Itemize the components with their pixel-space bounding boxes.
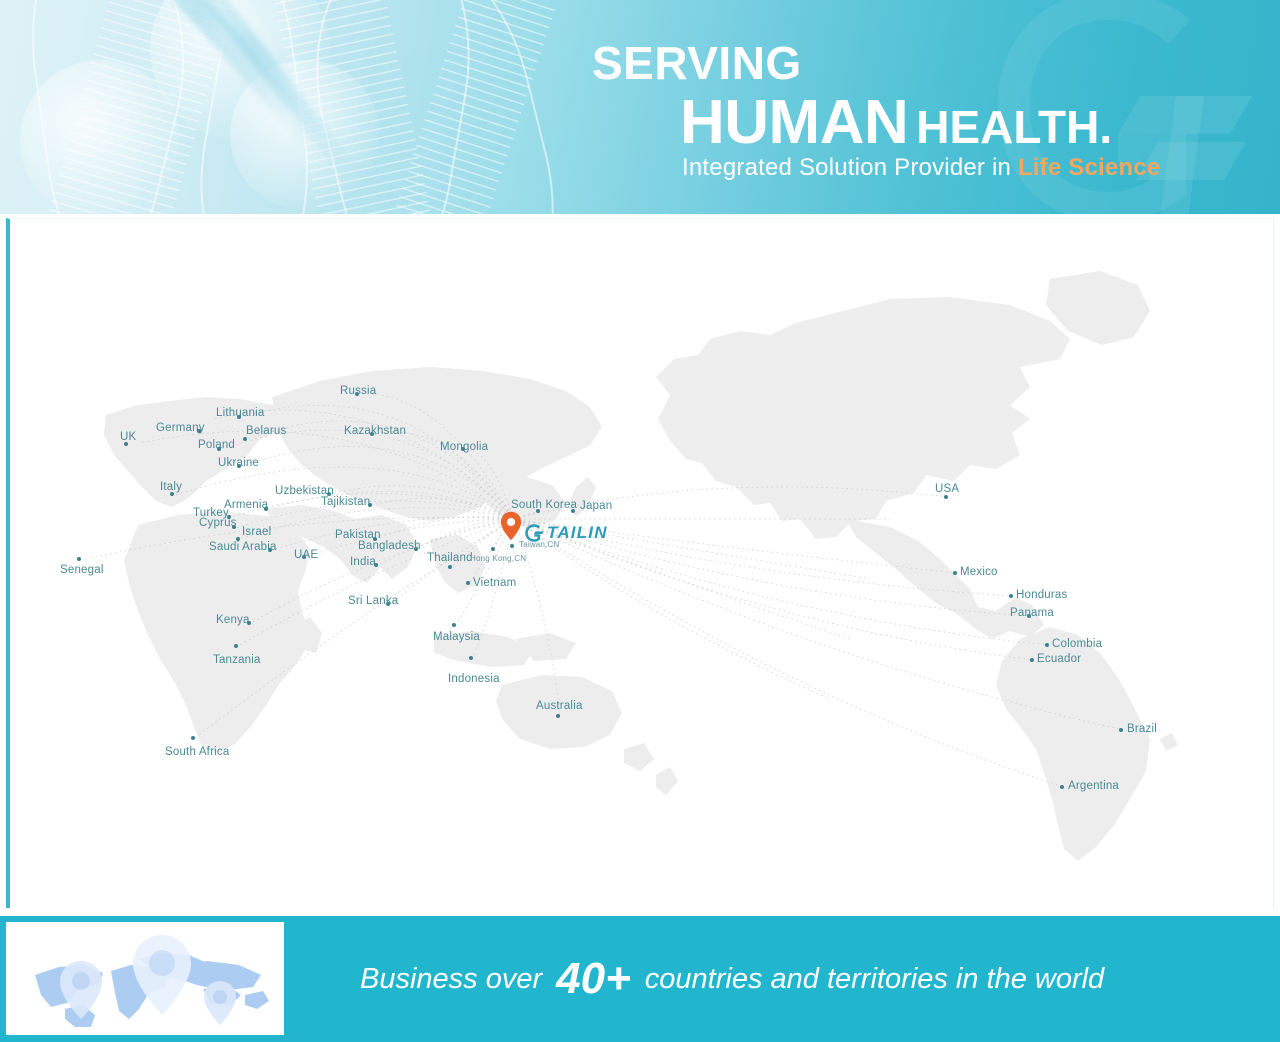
city-label: Tanzania xyxy=(213,654,261,666)
city-label: Lithuania xyxy=(216,407,264,419)
city-label: Argentina xyxy=(1068,780,1119,792)
city-label: Brazil xyxy=(1127,723,1157,735)
city-label: Russia xyxy=(340,385,376,397)
city-label: Kazakhstan xyxy=(344,425,406,437)
header-banner: SERVING HUMANHEALTH. Integrated Solution… xyxy=(0,0,1280,214)
world-presence-slide: SERVING HUMANHEALTH. Integrated Solution… xyxy=(0,0,1280,1042)
footer-country-count: 40+ xyxy=(556,954,631,1004)
city-label: Italy xyxy=(160,481,182,493)
city-label: Hong Kong,CN xyxy=(470,554,526,563)
tagline-accent: Life Science xyxy=(1018,154,1160,181)
city-label: Belarus xyxy=(246,425,286,437)
footer-tail-text: countries and territories in the world xyxy=(645,963,1104,996)
city-label: Thailand xyxy=(427,552,473,564)
city-label: Indonesia xyxy=(448,673,500,685)
city-label: UAE xyxy=(294,549,318,561)
header-line-human-health: HUMANHEALTH. xyxy=(680,92,1112,154)
city-label: Armenia xyxy=(224,499,268,511)
header-tagline: Integrated Solution Provider in Life Sci… xyxy=(682,154,1160,182)
city-label: Honduras xyxy=(1016,589,1067,601)
header-word-health: HEALTH. xyxy=(916,101,1112,153)
city-label: Colombia xyxy=(1052,638,1102,650)
city-label: South Korea xyxy=(511,499,577,511)
world-map-panel: RussiaLithuaniaGermanyBelarusPolandUKUkr… xyxy=(6,218,1274,908)
city-label: Mexico xyxy=(960,566,998,578)
city-label: Israel xyxy=(242,526,271,538)
city-label: Ukraine xyxy=(218,457,259,469)
footer-map-pins-image xyxy=(6,922,284,1035)
footer-lead-text: Business over xyxy=(360,963,542,996)
city-label: Panama xyxy=(1010,607,1054,619)
header-line-serving: SERVING xyxy=(592,40,802,86)
city-label: Japan xyxy=(580,500,612,512)
city-label: Cyprus xyxy=(199,517,237,529)
city-label: Kenya xyxy=(216,614,250,626)
tailin-g-mark-icon xyxy=(524,523,544,543)
city-label: Tajikistan xyxy=(321,496,370,508)
city-label: Ecuador xyxy=(1037,653,1081,665)
city-label: Senegal xyxy=(60,564,104,576)
tagline-prefix: Integrated Solution Provider in xyxy=(682,154,1018,181)
city-label: USA xyxy=(935,483,959,495)
footer-statement: Business over 40+ countries and territor… xyxy=(360,916,1104,1042)
header-word-human: HUMAN xyxy=(680,88,908,157)
city-label: Malaysia xyxy=(433,631,480,643)
city-label: UK xyxy=(120,431,136,443)
world-map-graphic xyxy=(10,219,1274,908)
city-label: Mongolia xyxy=(440,441,488,453)
city-label: Saudi Arabia xyxy=(209,541,277,553)
city-label: Germany xyxy=(156,422,205,434)
tailin-logo-text: TAILIN xyxy=(547,523,608,543)
city-label: South Africa xyxy=(165,746,229,758)
city-label: Vietnam xyxy=(473,577,516,589)
location-pin-icon xyxy=(500,511,522,541)
city-label: Australia xyxy=(536,700,583,712)
city-label: India xyxy=(350,556,376,568)
tailin-logo: TAILIN xyxy=(524,523,608,543)
city-label: Poland xyxy=(198,439,235,451)
city-label: Bangladesh xyxy=(358,540,421,552)
city-label: Sri Lanka xyxy=(348,595,398,607)
footer-banner: Business over 40+ countries and territor… xyxy=(0,916,1280,1042)
